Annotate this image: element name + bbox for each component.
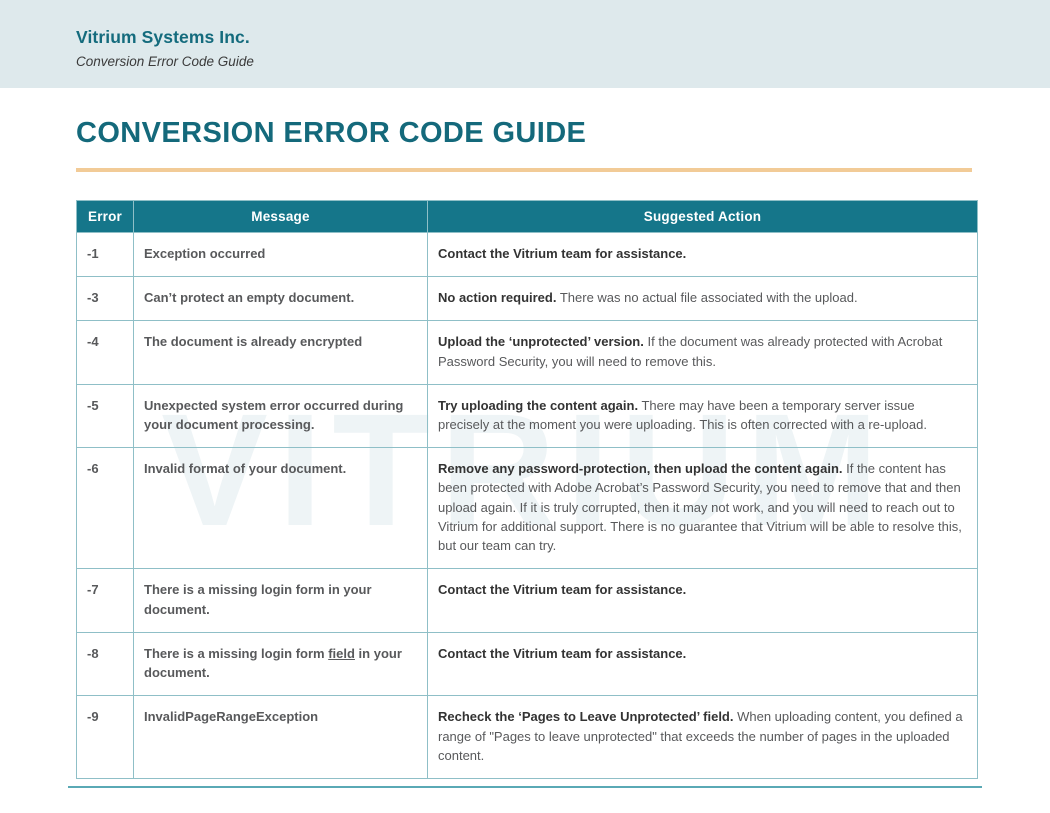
error-message-cell: Unexpected system error occurred during … [134,384,428,447]
error-message-cell: There is a missing login form in your do… [134,569,428,632]
table-row: -3Can’t protect an empty document.No act… [77,277,978,321]
table-row: -7There is a missing login form in your … [77,569,978,632]
table-row: -1Exception occurredContact the Vitrium … [77,232,978,276]
table-header-row: Error Message Suggested Action [77,200,978,232]
action-lead-text: Try uploading the content again. [438,398,638,413]
error-code-cell: -9 [77,696,134,779]
error-code-cell: -3 [77,277,134,321]
action-body-text: There was no actual file associated with… [556,290,857,305]
table-header: Error Message Suggested Action [77,200,978,232]
action-lead-text: Contact the Vitrium team for assistance. [438,646,686,661]
action-lead-text: Upload the ‘unprotected’ version. [438,334,644,349]
action-lead-text: Remove any password-protection, then upl… [438,461,843,476]
document-header-banner: Vitrium Systems Inc. Conversion Error Co… [0,0,1050,88]
document-subtitle: Conversion Error Code Guide [76,52,1050,72]
action-lead-text: Contact the Vitrium team for assistance. [438,582,686,597]
error-message-cell: There is a missing login form field in y… [134,632,428,695]
error-code-table-wrapper: Error Message Suggested Action -1Excepti… [76,200,977,779]
table-body: -1Exception occurredContact the Vitrium … [77,232,978,778]
column-header-action: Suggested Action [428,200,978,232]
suggested-action-cell: Remove any password-protection, then upl… [428,448,978,569]
suggested-action-cell: Contact the Vitrium team for assistance. [428,569,978,632]
suggested-action-cell: Contact the Vitrium team for assistance. [428,632,978,695]
error-code-cell: -4 [77,321,134,384]
action-lead-text: Recheck the ‘Pages to Leave Unprotected’… [438,709,733,724]
error-message-cell: InvalidPageRangeException [134,696,428,779]
table-row: -8There is a missing login form field in… [77,632,978,695]
error-code-table: Error Message Suggested Action -1Excepti… [76,200,978,779]
error-message-cell: Can’t protect an empty document. [134,277,428,321]
suggested-action-cell: Try uploading the content again. There m… [428,384,978,447]
error-code-cell: -1 [77,232,134,276]
error-message-cell: Exception occurred [134,232,428,276]
suggested-action-cell: Recheck the ‘Pages to Leave Unprotected’… [428,696,978,779]
message-text: There is a missing login form [144,646,328,661]
error-code-cell: -5 [77,384,134,447]
error-code-cell: -8 [77,632,134,695]
table-row: -6Invalid format of your document.Remove… [77,448,978,569]
column-header-error: Error [77,200,134,232]
suggested-action-cell: Contact the Vitrium team for assistance. [428,232,978,276]
action-lead-text: No action required. [438,290,556,305]
error-message-cell: Invalid format of your document. [134,448,428,569]
footer-divider [68,786,982,788]
table-row: -9InvalidPageRangeExceptionRecheck the ‘… [77,696,978,779]
error-message-cell: The document is already encrypted [134,321,428,384]
company-name: Vitrium Systems Inc. [76,26,1050,50]
message-emphasis: field [328,646,355,661]
column-header-message: Message [134,200,428,232]
page-title: CONVERSION ERROR CODE GUIDE [0,88,1050,151]
document-body: CONVERSION ERROR CODE GUIDE Error Messag… [0,88,1050,779]
suggested-action-cell: No action required. There was no actual … [428,277,978,321]
suggested-action-cell: Upload the ‘unprotected’ version. If the… [428,321,978,384]
error-code-cell: -6 [77,448,134,569]
error-code-cell: -7 [77,569,134,632]
table-row: -5Unexpected system error occurred durin… [77,384,978,447]
message-text: There is a missing login form in your do… [144,582,372,616]
table-row: -4The document is already encryptedUploa… [77,321,978,384]
title-divider [76,168,972,172]
action-lead-text: Contact the Vitrium team for assistance. [438,246,686,261]
